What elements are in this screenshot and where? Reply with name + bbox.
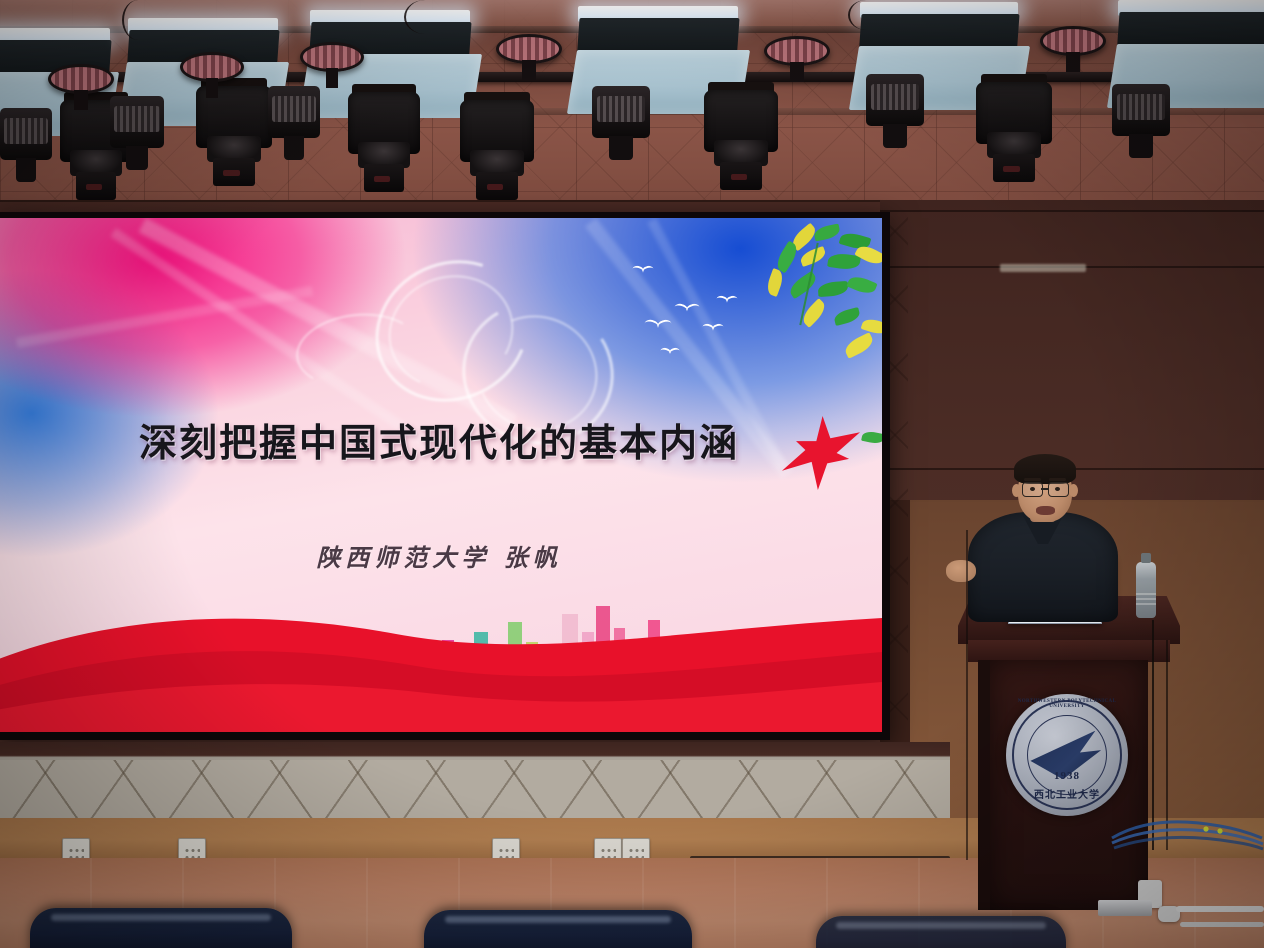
emblem-year: 1938 bbox=[1006, 770, 1128, 782]
ceiling-cable bbox=[122, 0, 154, 40]
led-screen: 深刻把握中国式现代化的基本内涵 陕西师范大学 张帆 bbox=[0, 218, 882, 732]
white-bird-icon bbox=[716, 296, 738, 304]
white-bird-icon bbox=[702, 324, 724, 332]
ceiling-cable bbox=[404, 0, 446, 34]
emblem-english-text: NORTHWESTERN POLYTECHNICAL UNIVERSITY bbox=[1006, 699, 1128, 709]
auditorium-photo: 深刻把握中国式现代化的基本内涵 陕西师范大学 张帆 NORTHWESTERN P… bbox=[0, 0, 1264, 948]
speaker bbox=[960, 452, 1170, 612]
red-ribbon bbox=[0, 582, 882, 732]
audience-seat bbox=[816, 916, 1066, 948]
audience-seat bbox=[424, 910, 692, 948]
acoustic-triangle-panels bbox=[0, 760, 950, 818]
white-bird-icon bbox=[644, 320, 672, 330]
mic-cable bbox=[966, 530, 968, 860]
white-cable bbox=[1180, 922, 1264, 927]
slide-title: 深刻把握中国式现代化的基本内涵 bbox=[0, 412, 882, 467]
white-bird-icon bbox=[660, 348, 680, 355]
ceiling-cable bbox=[848, 0, 884, 30]
ceiling bbox=[0, 0, 1264, 215]
leaf-branch-icon bbox=[756, 224, 882, 344]
white-bird-icon bbox=[674, 304, 700, 313]
floor-device bbox=[1098, 900, 1152, 916]
emblem-chinese-text: 西北工业大学 bbox=[1006, 786, 1128, 801]
white-cable bbox=[1176, 906, 1264, 912]
speaker-hand bbox=[946, 560, 976, 582]
white-bird-icon bbox=[632, 266, 654, 274]
lectern-side bbox=[978, 660, 990, 910]
audience-seat bbox=[30, 908, 292, 948]
slide-subtitle: 陕西师范大学 张帆 bbox=[0, 538, 882, 573]
network-cable-bundle bbox=[1110, 812, 1264, 856]
university-emblem: NORTHWESTERN POLYTECHNICAL UNIVERSITY 19… bbox=[1006, 694, 1128, 816]
lectern-lip bbox=[968, 640, 1170, 662]
